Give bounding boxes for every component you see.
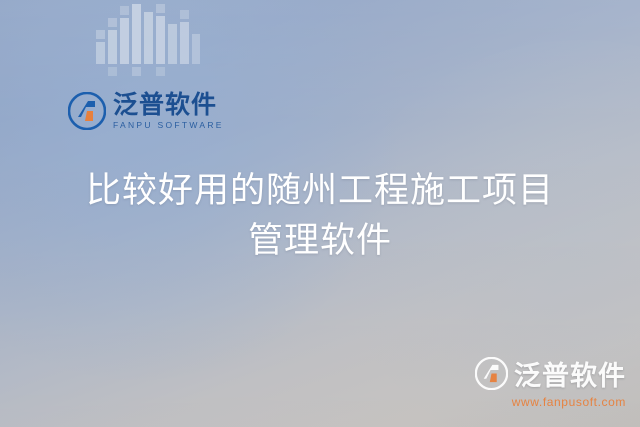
page-title-line-2: 管理软件 (0, 216, 640, 266)
fanpu-logo-icon (68, 92, 106, 130)
brand-name-cn: 泛普软件 (113, 92, 224, 118)
pixel-blocks-decoration (96, 4, 200, 82)
watermark: 泛普软件 www.fanpusoft.com (475, 354, 626, 409)
fanpu-watermark-logo-icon (475, 357, 508, 390)
page-title-line-1: 比较好用的随州工程施工项目 (0, 166, 640, 216)
brand-logo-text: 泛普软件 FANPU SOFTWARE (113, 92, 224, 130)
page-title: 比较好用的随州工程施工项目 管理软件 (0, 166, 640, 266)
slide-canvas: 泛普软件 FANPU SOFTWARE 比较好用的随州工程施工项目 管理软件 泛… (0, 0, 640, 427)
brand-name-en: FANPU SOFTWARE (113, 120, 224, 130)
brand-logo: 泛普软件 FANPU SOFTWARE (68, 88, 224, 134)
watermark-brand-name: 泛普软件 (514, 354, 626, 393)
watermark-url: www.fanpusoft.com (512, 395, 626, 409)
watermark-logo-row: 泛普软件 (475, 354, 626, 393)
